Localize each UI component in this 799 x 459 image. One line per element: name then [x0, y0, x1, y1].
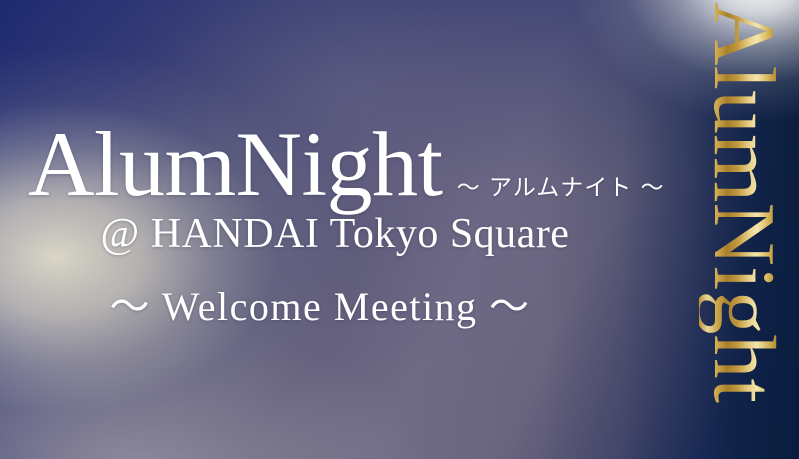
banner-title: AlumNight — [28, 118, 443, 210]
banner-welcome-line: ～ Welcome Meeting ～ — [0, 274, 640, 332]
vertical-wordmark-container: AlumNight — [691, 0, 799, 459]
event-banner: AlumNight ～ アルムナイト ～ @ HANDAI Tokyo Squa… — [0, 0, 799, 459]
banner-venue-line: @ HANDAI Tokyo Square — [0, 210, 670, 258]
vertical-gold-wordmark: AlumNight — [699, 2, 787, 403]
headline-text-block: AlumNight ～ アルムナイト ～ @ HANDAI Tokyo Squa… — [0, 0, 700, 459]
title-row: AlumNight ～ アルムナイト ～ — [28, 118, 665, 210]
banner-title-kana: ～ アルムナイト ～ — [457, 168, 665, 202]
